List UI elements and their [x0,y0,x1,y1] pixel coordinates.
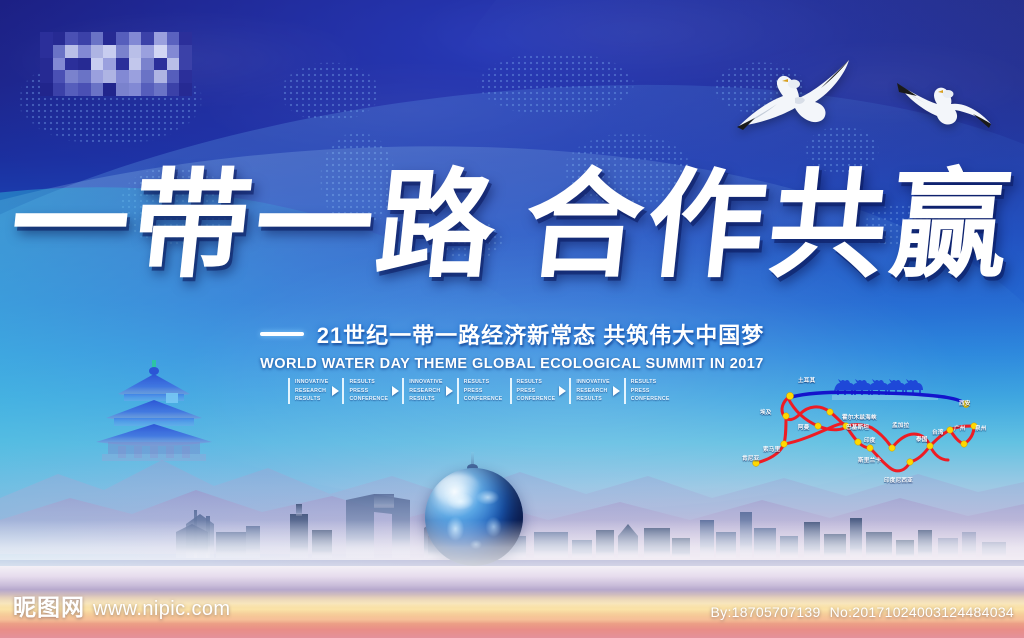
process-chip: INNOVATIVERESEARCHRESULTS [402,378,442,404]
headline-part-2: 合作共赢 [518,161,1020,292]
map-city-label: 霍尔木兹海峡 [842,413,877,421]
map-city-label: 广州 [954,424,966,432]
map-city-label: 孟加拉 [892,421,909,429]
process-chip-line: RESEARCH [295,387,328,395]
arrow-right-icon [388,386,402,396]
process-chip-line: INNOVATIVE [295,378,328,386]
arrow-right-icon [555,386,569,396]
process-chip-line: RESULTS [464,378,503,386]
process-chip-line: PRESS [464,387,503,395]
process-chip-line: PRESS [631,387,670,395]
process-chip-lines: INNOVATIVERESEARCHRESULTS [409,378,442,403]
credit-by: By:18705707139 [711,604,821,620]
globe-highlight [435,474,482,507]
censored-logo-mosaic [40,32,192,96]
subtitle-chinese: 21世纪一带一路经济新常态 共筑伟大中国梦 [317,318,765,350]
process-chip-line: PRESS [517,387,556,395]
map-city-label: 肯尼亚 [742,454,759,462]
process-chip-line: INNOVATIVE [576,378,609,386]
map-city-label: 印度 [864,436,876,444]
process-chip-line: INNOVATIVE [409,378,442,386]
process-chip: RESULTSPRESSCONFERENCE [510,378,556,404]
process-chip-line: RESEARCH [576,387,609,395]
process-chip-lines: RESULTSPRESSCONFERENCE [631,378,670,403]
arrow-right-icon [443,386,457,396]
poster-canvas: 一带一路合作共赢 21世纪一带一路经济新常态 共筑伟大中国梦 WORLD WAT… [0,0,1024,638]
watermark-brand: 昵图网 [13,588,85,622]
map-city-label: 泰国 [916,435,928,443]
credit-no: No:20171024003124484034 [830,604,1014,620]
page-title: 一带一路合作共赢 [0,168,1024,286]
process-chip-line: CONFERENCE [631,395,670,403]
subtitle-block: 21世纪一带一路经济新常态 共筑伟大中国梦 WORLD WATER DAY TH… [0,318,1024,372]
map-city-label: 泉州 [975,424,987,432]
watermark: 昵图网 www.nipic.com [13,588,230,622]
map-city-label: 土耳其 [798,376,815,384]
map-city-label: 索马里 [763,445,780,453]
map-city-label: 台湾 [932,428,944,436]
process-chip-lines: RESULTSPRESSCONFERENCE [464,378,503,403]
process-chip-lines: INNOVATIVERESEARCHRESULTS [295,378,328,403]
process-chip-lines: RESULTSPRESSCONFERENCE [517,378,556,403]
process-chip: RESULTSPRESSCONFERENCE [342,378,388,404]
watermark-url: www.nipic.com [93,598,230,621]
process-chip: RESULTSPRESSCONFERENCE [457,378,503,404]
process-chip: RESULTSPRESSCONFERENCE [624,378,670,404]
seagull-icon [893,62,995,136]
map-city-label: 埃及 [760,408,772,416]
process-chip-line: CONFERENCE [464,395,503,403]
process-chip-line: RESULTS [349,378,388,386]
process-chip-line: CONFERENCE [349,395,388,403]
process-chip: INNOVATIVERESEARCHRESULTS [569,378,609,404]
process-chip-line: CONFERENCE [517,395,556,403]
temple-of-heaven-illustration [78,360,230,468]
process-chip-strip: INNOVATIVERESEARCHRESULTSRESULTSPRESSCON… [288,377,670,405]
process-chip-lines: INNOVATIVERESEARCHRESULTS [576,378,609,403]
process-chip-line: RESEARCH [409,387,442,395]
process-chip: INNOVATIVERESEARCHRESULTS [288,378,328,404]
process-chip-line: RESULTS [576,395,609,403]
process-chip-line: RESULTS [631,378,670,386]
process-chip-line: RESULTS [295,395,328,403]
process-chip-lines: RESULTSPRESSCONFERENCE [349,378,388,403]
credit-line: By:18705707139 No:20171024003124484034 [711,604,1015,620]
arrow-right-icon [328,386,342,396]
map-city-label: 阿曼 [798,423,810,431]
process-chip-line: RESULTS [409,395,442,403]
subtitle-chinese-row: 21世纪一带一路经济新常态 共筑伟大中国梦 [260,318,765,350]
process-chip-line: RESULTS [517,378,556,386]
map-city-label: 巴基斯坦 [846,423,869,431]
seagull-icon [733,52,857,138]
headline-part-1: 一带一路 [4,161,506,292]
map-city-label: 西安 [959,399,971,407]
rule-decoration [260,332,304,336]
arrow-right-icon [610,386,624,396]
process-chip-line: PRESS [349,387,388,395]
